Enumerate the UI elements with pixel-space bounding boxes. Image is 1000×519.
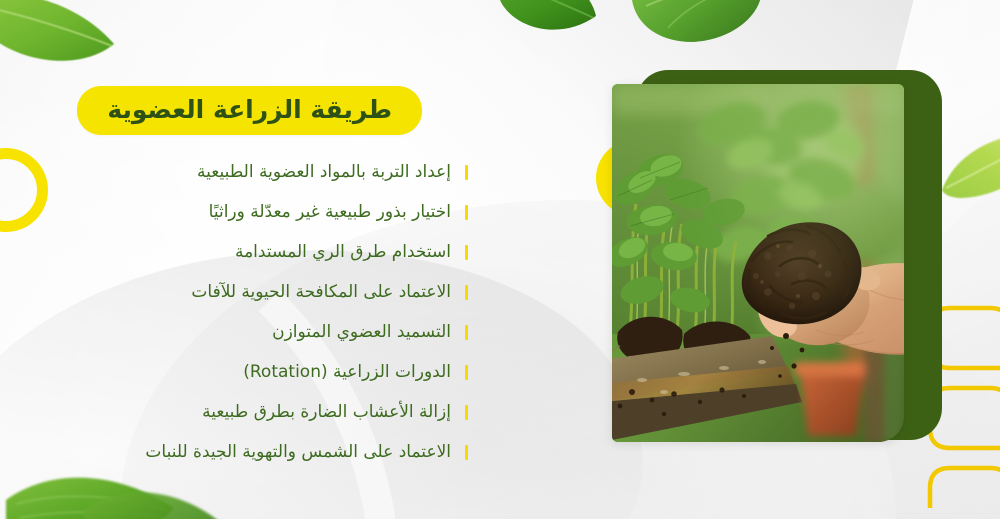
list-item-label: الاعتماد على الشمس والتهوية الجيدة للنبا… <box>145 441 451 464</box>
bullet-icon <box>465 165 468 180</box>
bullet-icon <box>465 245 468 260</box>
organic-farming-steps-list: إعداد التربة بالمواد العضوية الطبيعية اخ… <box>48 152 468 472</box>
bullet-icon <box>465 285 468 300</box>
infographic-poster: طريقة الزراعة العضوية إعداد التربة بالمو… <box>0 0 1000 519</box>
list-item: اختيار بذور طبيعية غير معدّلة وراثيًا <box>48 192 468 232</box>
list-item: إزالة الأعشاب الضارة بطرق طبيعية <box>48 392 468 432</box>
list-item-label: الدورات الزراعية (Rotation) <box>243 361 451 384</box>
page-title: طريقة الزراعة العضوية <box>77 86 422 135</box>
list-item-label: الاعتماد على المكافحة الحيوية للآفات <box>191 281 451 304</box>
page-title-text: طريقة الزراعة العضوية <box>107 94 392 125</box>
list-item: الدورات الزراعية (Rotation) <box>48 352 468 392</box>
list-item: إعداد التربة بالمواد العضوية الطبيعية <box>48 152 468 192</box>
bullet-icon <box>465 325 468 340</box>
list-item: التسميد العضوي المتوازن <box>48 312 468 352</box>
bullet-icon <box>465 405 468 420</box>
hands-holding-soil-with-seedlings-photo <box>612 84 904 442</box>
list-item: الاعتماد على المكافحة الحيوية للآفات <box>48 272 468 312</box>
bullet-icon <box>465 205 468 220</box>
list-item-label: التسميد العضوي المتوازن <box>272 321 451 344</box>
list-item-label: استخدام طرق الري المستدامة <box>235 241 451 264</box>
list-item-label: اختيار بذور طبيعية غير معدّلة وراثيًا <box>209 201 451 224</box>
list-item: الاعتماد على الشمس والتهوية الجيدة للنبا… <box>48 432 468 472</box>
list-item-label: إعداد التربة بالمواد العضوية الطبيعية <box>197 161 451 184</box>
photo-block <box>612 84 918 454</box>
bullet-icon <box>465 365 468 380</box>
list-item: استخدام طرق الري المستدامة <box>48 232 468 272</box>
bullet-icon <box>465 445 468 460</box>
list-item-label: إزالة الأعشاب الضارة بطرق طبيعية <box>202 401 451 424</box>
